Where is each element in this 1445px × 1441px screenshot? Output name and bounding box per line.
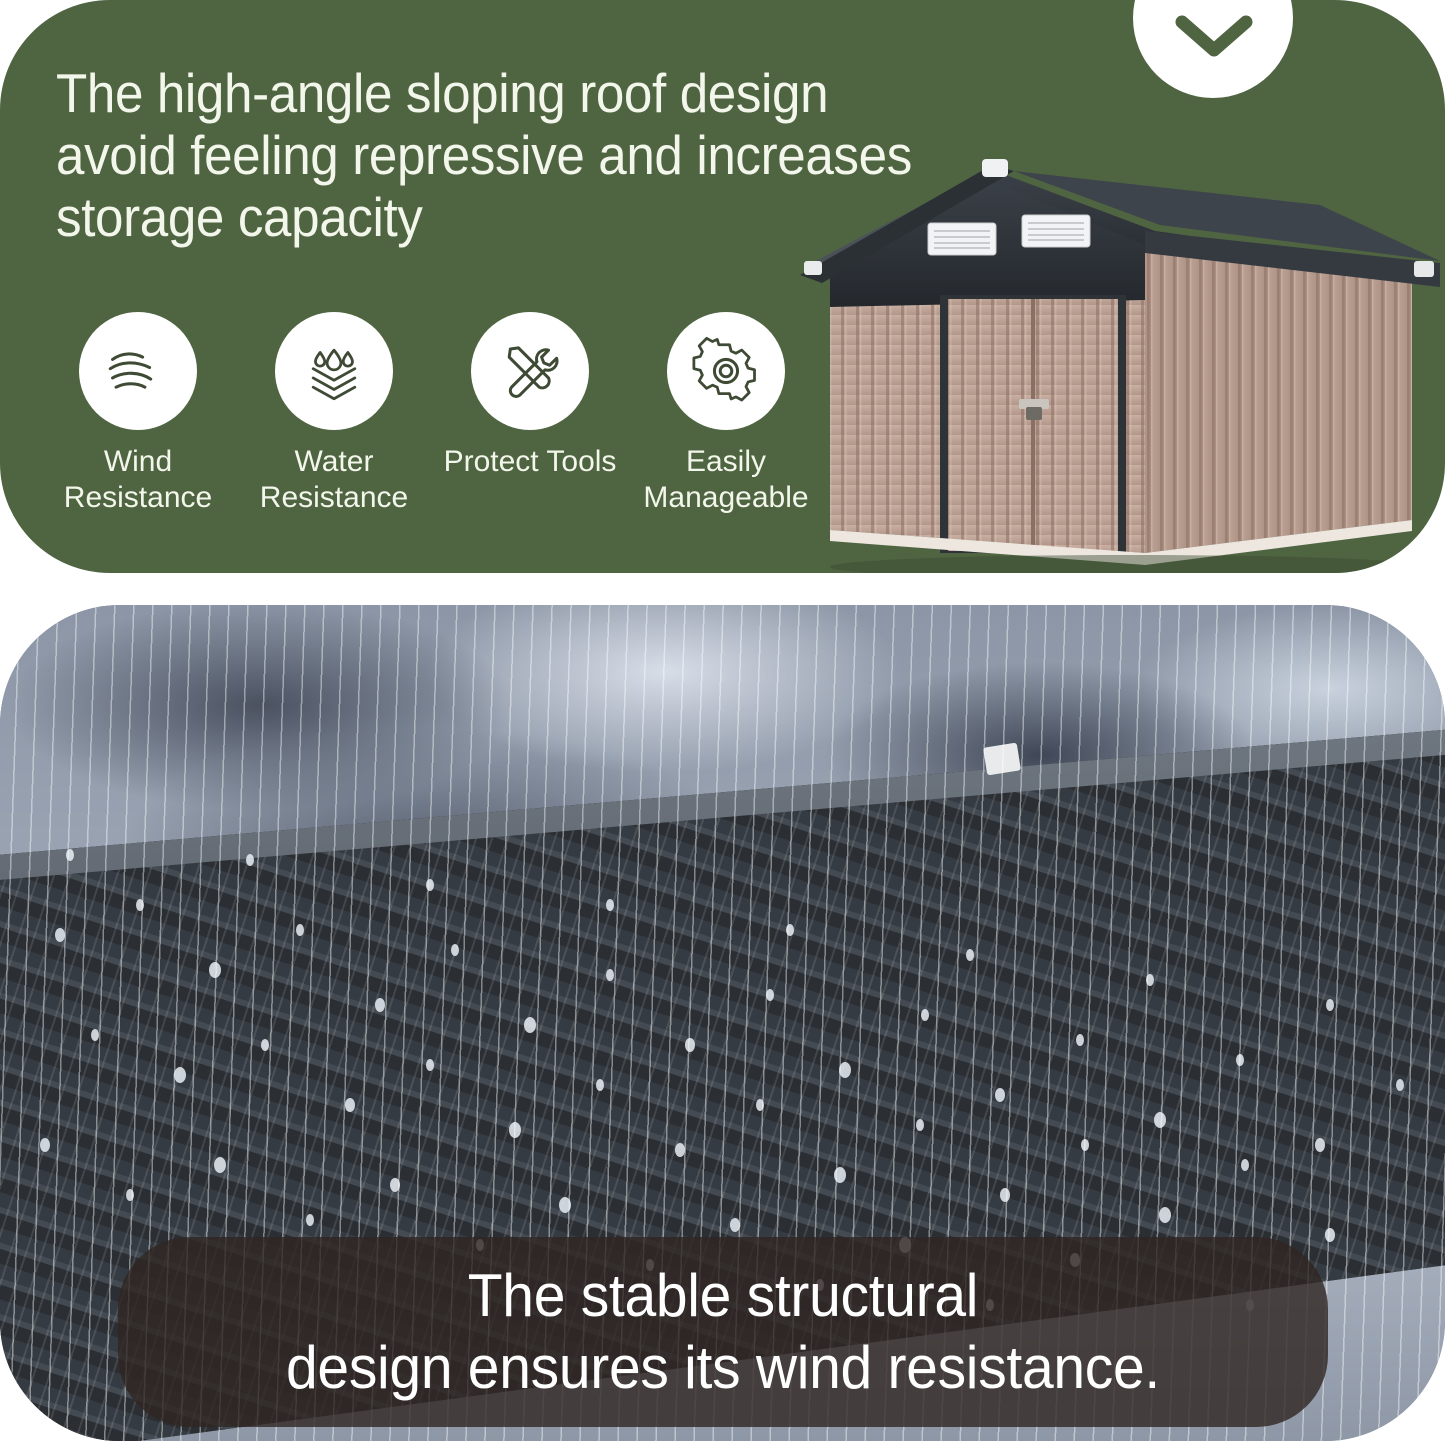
gear-icon — [689, 334, 763, 408]
gable-vent — [1022, 215, 1090, 247]
chevron-down-icon[interactable] — [1168, 6, 1260, 66]
feature-item-wind: Wind Resistance — [40, 312, 236, 542]
feature-item-protect-tools: Protect Tools — [432, 312, 628, 542]
screwdriver-wrench-icon — [493, 334, 567, 408]
gable-vent — [928, 223, 996, 255]
feature-label: Wind Resistance — [40, 444, 236, 516]
feature-label: Protect Tools — [444, 444, 617, 480]
water-droplet-layers-icon-badge — [275, 312, 393, 430]
feature-item-easily-manageable: Easily Manageable — [628, 312, 824, 542]
water-droplet-layers-icon — [297, 334, 371, 408]
feature-label: Water Resistance — [236, 444, 432, 516]
caption-text: The stable structural design ensures its… — [286, 1260, 1160, 1404]
caption-banner: The stable structural design ensures its… — [118, 1237, 1328, 1427]
feature-label: Easily Manageable — [628, 444, 824, 516]
wind-waves-icon-badge — [79, 312, 197, 430]
screwdriver-wrench-icon-badge — [471, 312, 589, 430]
feature-list: Wind Resistance Water Resistance — [40, 312, 840, 542]
wind-waves-icon — [101, 334, 175, 408]
panel-headline: The high-angle sloping roof design avoid… — [56, 62, 930, 248]
feature-item-water: Water Resistance — [236, 312, 432, 542]
gear-icon-badge — [667, 312, 785, 430]
